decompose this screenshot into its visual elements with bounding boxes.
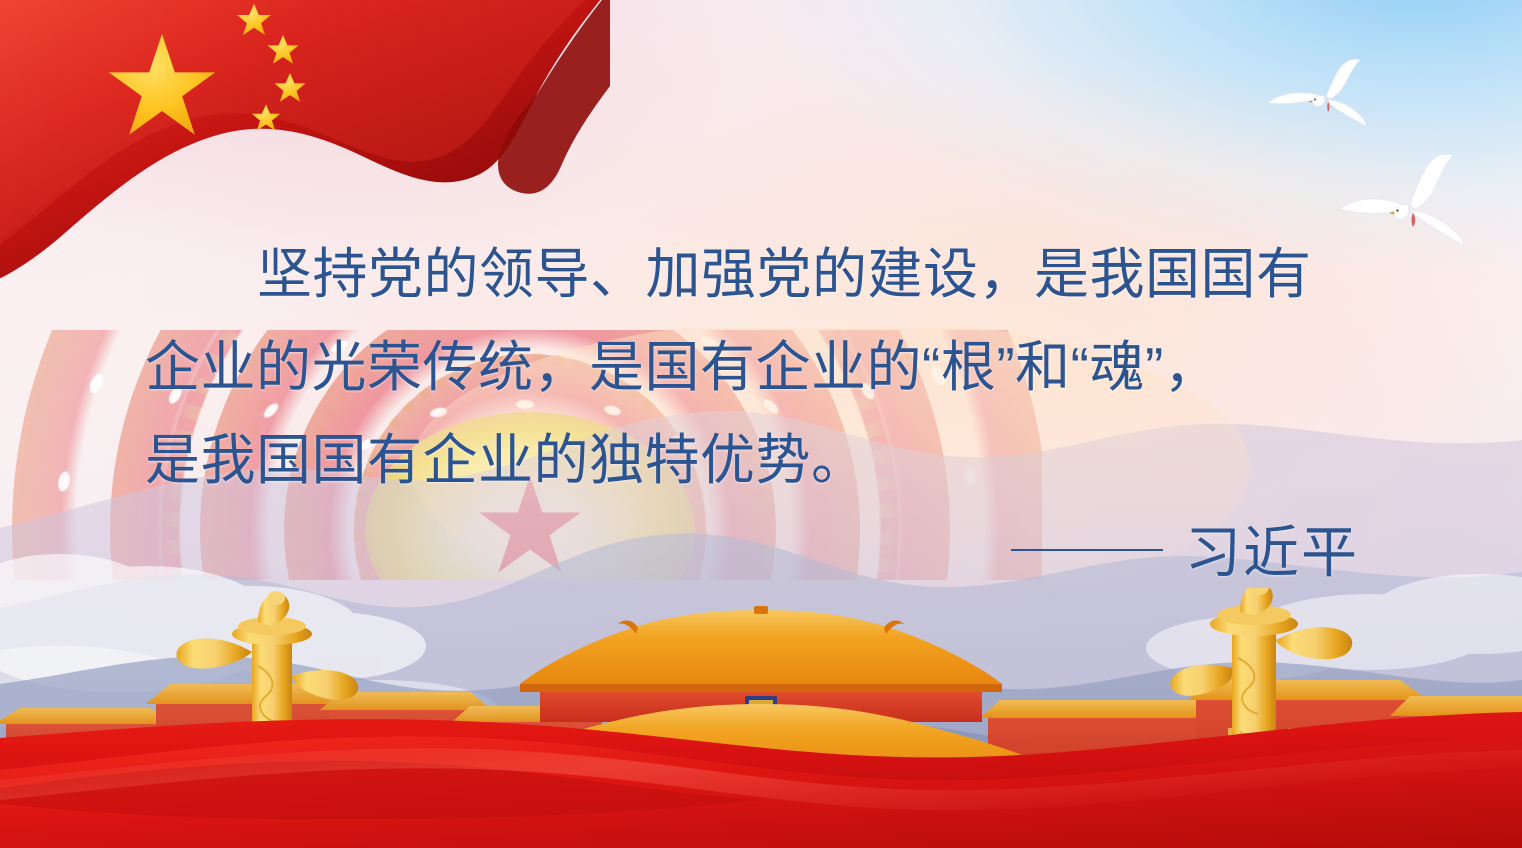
dove-upper-right-icon	[1268, 58, 1386, 130]
red-silk-banner	[0, 668, 1522, 848]
attribution-author: 习近平	[1185, 515, 1359, 591]
quote-line-2: 企业的光荣传统，是国有企业的“根”和“魂”，	[145, 321, 1385, 414]
slide-canvas: 坚持党的领导、加强党的建设，是我国国有 企业的光荣传统，是国有企业的“根”和“魂…	[0, 0, 1522, 848]
quote-line-3: 是我国国有企业的独特优势。	[145, 414, 1385, 507]
quote-text-block: 坚持党的领导、加强党的建设，是我国国有 企业的光荣传统，是国有企业的“根”和“魂…	[145, 228, 1385, 507]
attribution-rule	[1011, 549, 1163, 551]
attribution: 习近平	[145, 515, 1385, 591]
quote-line-1: 坚持党的领导、加强党的建设，是我国国有	[145, 228, 1385, 321]
